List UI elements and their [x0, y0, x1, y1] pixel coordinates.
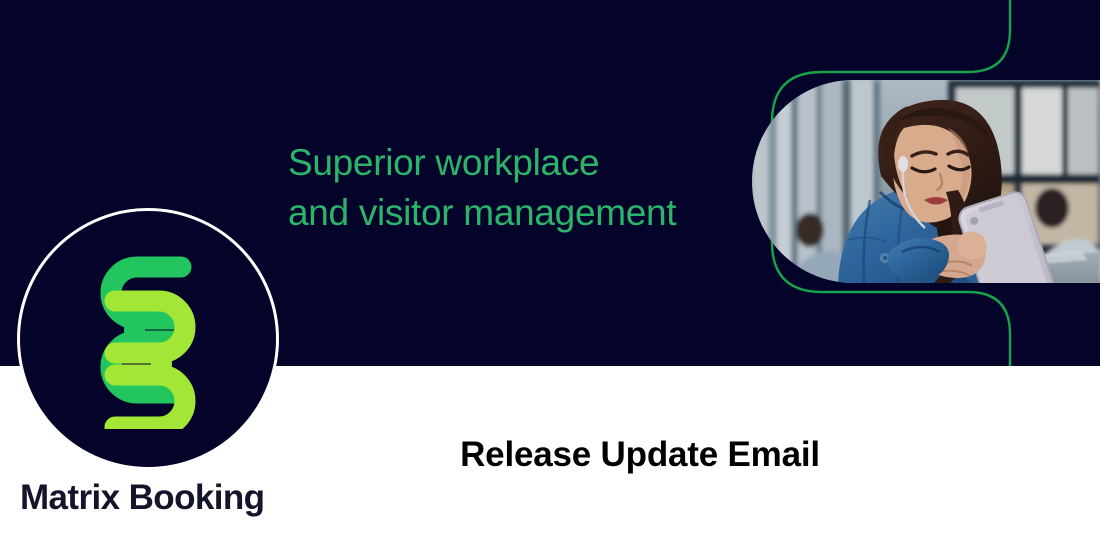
hero-tagline: Superior workplace and visitor managemen…: [288, 138, 748, 237]
hero-photo: [752, 80, 1100, 283]
hero-photo-image: [752, 80, 1100, 283]
brand-name: Matrix Booking: [20, 478, 320, 518]
matrix-booking-logo-icon: [85, 249, 211, 429]
logo-badge[interactable]: [17, 208, 279, 470]
